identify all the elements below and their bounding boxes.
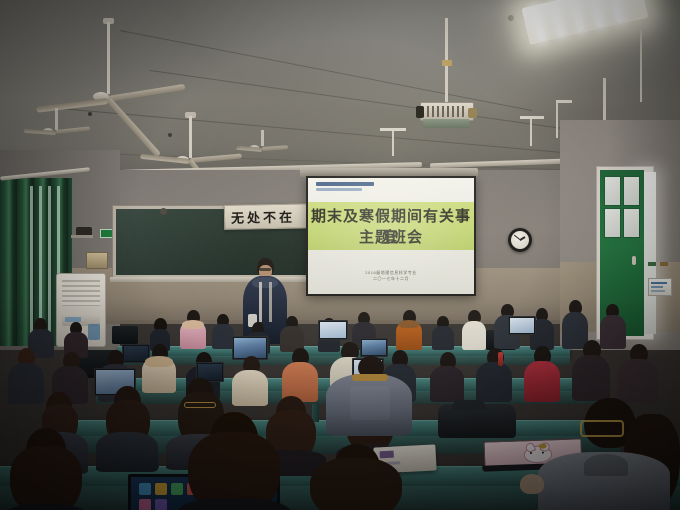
student xyxy=(326,368,412,446)
classroom-photo: 无处不在 期末及寒假期间有关事宜 主题班会 2016级地理信息科学专业 二〇一七… xyxy=(0,0,680,510)
eyeglasses xyxy=(580,420,624,437)
student xyxy=(212,314,234,348)
student xyxy=(280,316,304,350)
door-window-pane xyxy=(604,208,621,238)
student xyxy=(0,428,92,510)
water-bottle xyxy=(498,352,503,366)
student xyxy=(396,310,422,348)
slide-logo xyxy=(316,182,374,193)
coat-collar xyxy=(584,454,628,476)
slide-title-band: 期末及寒假期间有关事宜 主题班会 xyxy=(308,202,474,250)
fur-hood xyxy=(182,320,204,329)
wall-marker xyxy=(648,262,656,266)
student xyxy=(538,398,680,510)
student xyxy=(282,348,318,398)
student xyxy=(618,344,658,400)
light-bracket xyxy=(380,128,406,131)
backpack-handle xyxy=(452,400,486,410)
door-window-pane xyxy=(623,176,640,206)
student xyxy=(64,322,88,356)
ceiling-hook xyxy=(168,133,172,137)
projection-screen: 期末及寒假期间有关事宜 主题班会 2016级地理信息科学专业 二〇一七年十二月 xyxy=(306,176,476,296)
student xyxy=(96,386,158,466)
student xyxy=(180,310,206,348)
ac-label xyxy=(88,324,100,340)
student xyxy=(432,316,454,348)
wall-banner-text: 无处不在 xyxy=(231,207,295,227)
wall-notice xyxy=(86,252,108,269)
ceiling-hook xyxy=(508,15,514,21)
door-window-pane xyxy=(623,208,640,238)
laptop[interactable] xyxy=(318,320,346,338)
presenter-glasses xyxy=(259,268,271,271)
light-bracket xyxy=(556,100,572,103)
student xyxy=(176,412,292,510)
jacket-hood-trim xyxy=(352,374,388,381)
clock-minute-hand xyxy=(513,235,520,241)
presenter-zipper-trim xyxy=(269,282,272,322)
student xyxy=(430,352,464,398)
wall-notice-plate xyxy=(648,278,672,296)
door-handle[interactable] xyxy=(632,256,636,265)
door-window-pane xyxy=(604,176,621,206)
wall-marker xyxy=(660,262,668,266)
ac-vent-grill xyxy=(62,280,100,306)
light-bracket xyxy=(520,116,544,119)
slide-footer: 2016级地理信息科学专业 二〇一七年十二月 xyxy=(308,270,474,282)
eyeglasses xyxy=(184,402,216,408)
student xyxy=(296,444,414,510)
clock-face xyxy=(511,231,529,249)
slide-surface: 期末及寒假期间有关事宜 主题班会 2016级地理信息科学专业 二〇一七年十二月 xyxy=(308,178,474,294)
slide-footer-line-2: 二〇一七年十二月 xyxy=(308,276,474,282)
light-pole xyxy=(392,130,394,156)
security-camera-icon xyxy=(76,227,92,236)
laptop[interactable] xyxy=(508,316,534,333)
wall-clock xyxy=(508,228,532,252)
student xyxy=(524,346,560,398)
desktop-monitor xyxy=(112,326,138,344)
ceiling-hook xyxy=(88,112,92,116)
student xyxy=(572,340,610,398)
light-pole xyxy=(556,102,558,138)
slide-title-line-2: 主题班会 xyxy=(308,226,474,247)
student xyxy=(462,310,486,348)
light-pole xyxy=(640,30,642,102)
student xyxy=(476,348,512,398)
hand xyxy=(520,474,544,494)
presenter-zipper-trim xyxy=(259,282,262,322)
light-pole xyxy=(530,118,532,146)
presenter-hood xyxy=(252,277,278,288)
blackboard-knob xyxy=(160,208,167,215)
laptop[interactable] xyxy=(232,336,266,358)
